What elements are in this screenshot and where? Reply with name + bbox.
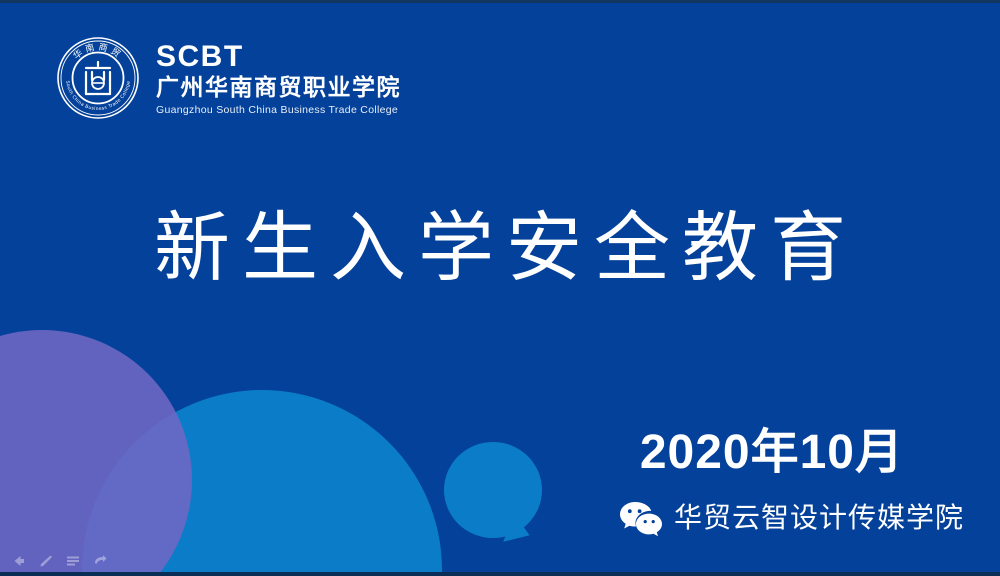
college-logo-text: SCBT 广州华南商贸职业学院 Guangzhou South China Bu…: [156, 39, 401, 117]
wechat-icon: [619, 500, 663, 536]
wechat-account-name: 华贸云智设计传媒学院: [674, 503, 964, 534]
slide-top-border: [0, 0, 1000, 3]
pen-icon[interactable]: [37, 554, 54, 569]
college-abbreviation: SCBT: [156, 41, 401, 73]
purple-circle-shape: [0, 330, 192, 576]
wechat-watermark: 华贸云智设计传媒学院: [619, 500, 964, 536]
slideshow-toolbar[interactable]: [0, 550, 118, 572]
slide-list-icon[interactable]: [64, 554, 81, 569]
college-name-en: Guangzhou South China Business Trade Col…: [156, 104, 401, 117]
presentation-slide: 华南商贸 South China Business Trade College: [0, 0, 1000, 576]
slide-title: 新生入学安全教育: [0, 205, 1000, 290]
college-logo: 华南商贸 South China Business Trade College: [56, 36, 401, 120]
college-seal-icon: 华南商贸 South China Business Trade College: [56, 36, 140, 120]
next-slide-arrow-icon[interactable]: [91, 554, 108, 569]
slide-bottom-border: [0, 572, 1000, 576]
slide-date: 2020年10月: [640, 424, 904, 482]
college-name-cn: 广州华南商贸职业学院: [156, 74, 401, 101]
previous-slide-arrow-icon[interactable]: [10, 554, 27, 569]
